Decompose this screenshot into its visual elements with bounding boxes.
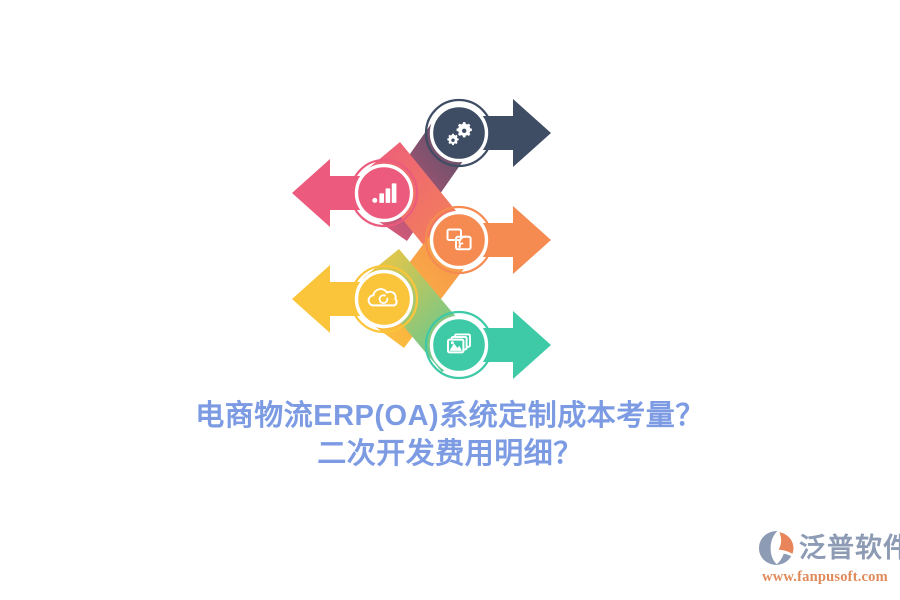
page-canvas: 电商物流ERP(OA)系统定制成本考量？ 二次开发费用明细？ 泛普软件 www.… [0, 0, 900, 600]
title-line-2: 二次开发费用明细？ [0, 436, 900, 474]
zigzag-arrow-infographic [0, 0, 900, 400]
brand-logo[interactable]: 泛普软件 www.fanpusoft.com [757, 528, 893, 590]
node-circle-bar-chart [357, 166, 412, 221]
gallery-icon [448, 334, 470, 352]
node-bar-chart[interactable] [292, 159, 417, 227]
node-gallery[interactable] [426, 311, 551, 379]
node-gears[interactable] [426, 99, 551, 167]
fanpu-logo-mark [757, 529, 797, 567]
node-cloud-sync[interactable] [292, 265, 417, 333]
logo-row: 泛普软件 [757, 528, 893, 568]
logo-url-text: www.fanpusoft.com [757, 569, 893, 586]
node-screen-cast[interactable] [426, 206, 551, 274]
page-title: 电商物流ERP(OA)系统定制成本考量？ 二次开发费用明细？ [0, 398, 900, 473]
logo-brand-text: 泛普软件 [799, 535, 900, 562]
node-circle-cloud-sync [357, 272, 412, 327]
title-line-1: 电商物流ERP(OA)系统定制成本考量？ [0, 398, 900, 436]
